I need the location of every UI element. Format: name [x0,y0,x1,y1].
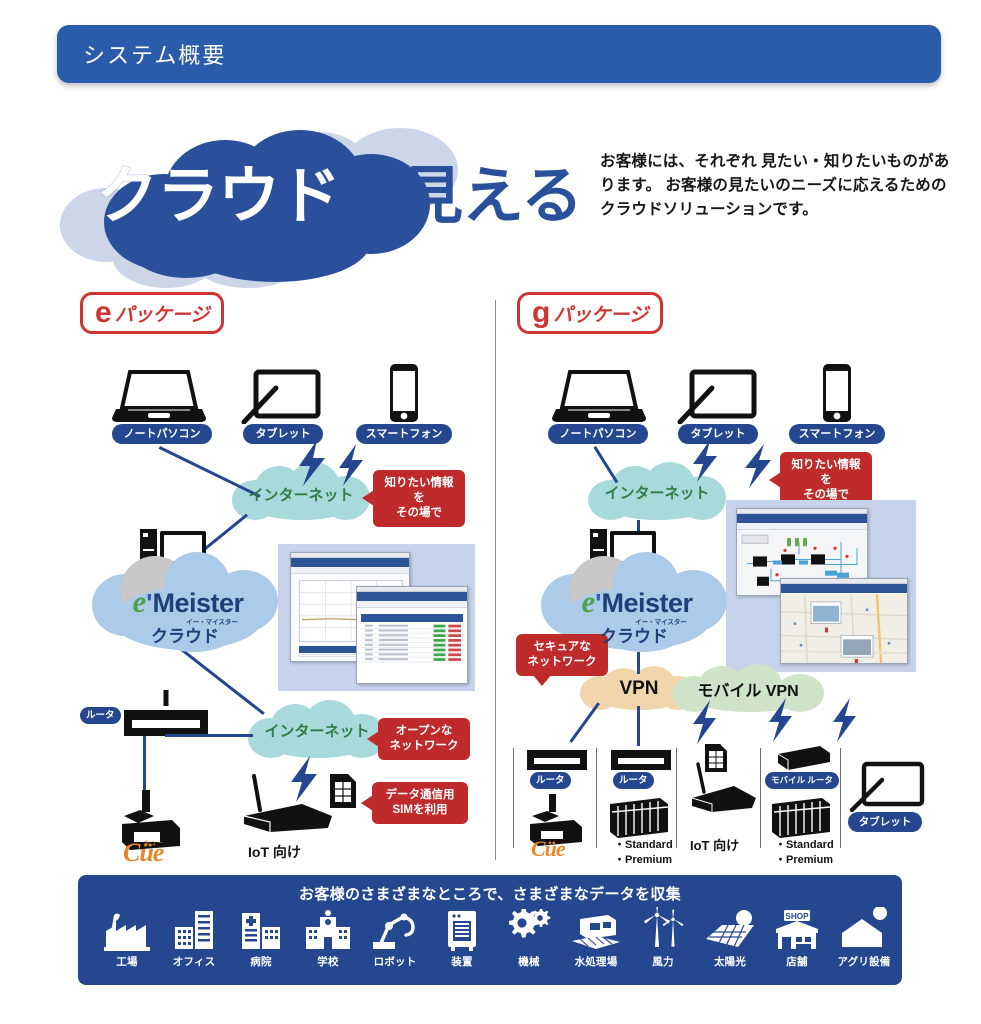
banner-item-shop: SHOP 店舗 [766,907,828,969]
column-separator-2 [596,748,597,848]
shop-sign-text: SHOP [785,912,809,921]
sim-card-icon-col3 [703,742,729,779]
banner-label-shop: 店舗 [766,954,828,969]
banner-item-solar: 太陽光 [699,907,761,969]
meister-logo-word-right: Meister [601,588,692,618]
column-separator-1 [513,748,514,848]
wind-turbine-icon [632,907,694,951]
iot-label-col3: IoT 向け [690,835,739,854]
sim-card-icon-left [328,772,358,815]
banner-label-solar: 太陽光 [699,954,761,969]
banner-item-school: 学校 [297,907,359,969]
device-label-router-col1: ルータ [530,772,571,789]
screenshot-table-window [356,586,468,684]
package-label-e: パッケージ [115,300,210,327]
panel-divider [495,300,496,860]
banner-item-factory: 工場 [96,907,158,969]
wifi-bolt-icon-4 [690,440,720,487]
banner-label-factory: 工場 [96,954,158,969]
wifi-bolt-icon-7 [766,698,794,747]
hospital-icon [230,907,292,951]
meister-logo-word: Meister [152,588,243,618]
link-meister-vpn [637,652,640,674]
device-label-smartphone-right: スマートフォン [789,424,885,444]
iot-label-left: IoT 向け [248,842,301,862]
internet-cloud-label-left-lower: インターネット [248,720,386,741]
vpn-cloud-label: VPN [580,678,698,700]
device-label-mobile-router-col4: モバイル ルータ [765,772,839,789]
banner-item-agri: アグリ設備 [833,907,895,969]
banner-label-equipment: 装置 [431,954,493,969]
equipment-cabinet-icon [431,907,493,951]
lead-paragraph: お客様には、それぞれ 見たい・知りたいものがあります。 お客様の見たいのニーズに… [600,150,950,222]
device-label-router-left: ルータ [80,707,121,724]
meister-cloud-right: e'Meister イー・マイスター クラウド [541,548,727,652]
link-router-internet-left [165,734,253,737]
solar-panel-icon [699,907,761,951]
server-stack-icon-col4 [768,794,834,843]
banner-item-water: 水処理場 [565,907,627,969]
package-badge-e[interactable]: e パッケージ [80,292,224,334]
greenhouse-icon [833,907,895,951]
cue-logo-ruby-left: キュー [144,838,164,847]
headline-cloud-word: クラウド [96,162,340,231]
page-title: システム概要 [83,38,226,70]
callout-open-network: オープンな ネットワーク [378,718,470,760]
banner-item-office: オフィス [163,907,225,969]
banner-title: お客様のさまざまなところで、さまざまなデータを収集 [78,883,902,904]
shop-icon: SHOP [766,907,828,951]
meister-logo-ruby-right: イー・マイスター [601,616,721,626]
banner-item-hospital: 病院 [230,907,292,969]
package-badge-g[interactable]: g パッケージ [517,292,663,334]
banner-label-school: 学校 [297,954,359,969]
server-stack-icon-col2 [606,794,672,843]
banner-label-wind: 風力 [632,954,694,969]
laptop-icon-right [550,368,646,429]
headline-text: クラウドで見える [96,166,616,228]
water-treatment-icon [565,907,627,951]
stack-note-col4: ・Standard ・Premium [775,838,834,868]
device-label-smartphone-left: スマートフォン [356,424,452,444]
smartphone-icon-left [385,363,423,430]
link-vpn-router2 [637,706,640,746]
internet-cloud-left-lower: インターネット [248,700,386,758]
package-letter-g: g [532,298,550,328]
tablet-icon-col5 [848,760,926,819]
package-label-g: パッケージ [553,300,648,327]
tablet-icon-left [240,368,322,429]
package-letter-e: e [95,298,112,328]
column-separator-3 [676,748,677,848]
school-icon [297,907,359,951]
laptop-icon-left [110,368,206,429]
internet-cloud-label-left: インターネット [232,484,370,505]
page-header-bar: システム概要 [57,25,941,83]
banner-item-wind: 風力 [632,907,694,969]
screenshot-panel-right [726,500,916,672]
device-label-laptop-left: ノートパソコン [112,424,212,444]
stack-note-col2: ・Standard ・Premium [614,838,673,868]
banner-item-machine: 機械 [498,907,560,969]
internet-cloud-label-right: インターネット [588,482,726,503]
headline-cloud-group: クラウドで見える [60,128,600,288]
column-separator-5 [840,748,841,848]
smartphone-icon-right [818,363,856,430]
banner-label-office: オフィス [163,954,225,969]
banner-label-robot: ロボット [364,954,426,969]
gears-icon [498,907,560,951]
meister-cloud-left: e'Meister イー・マイスター クラウド [92,548,278,652]
banner-label-water: 水処理場 [565,954,627,969]
meister-logo-ruby: イー・マイスター [152,616,272,626]
factory-icon [96,907,158,951]
meister-logo-e-right: e [582,584,596,619]
meister-logo-e: e [133,584,147,619]
iot-gateway-icon-left [236,772,340,839]
banner-item-equipment: 装置 [431,907,493,969]
system-overview-diagram: システム概要 クラウドで見える お客様には、それぞれ 見たい・知りたいものがあり… [0,0,981,1024]
screenshot-panel-left [278,544,475,691]
tablet-icon-right [676,368,758,429]
screenshot-map-window [780,578,908,664]
device-label-router-col2: ルータ [613,772,654,789]
office-icon [163,907,225,951]
device-label-tablet-col5: タブレット [848,812,922,832]
banner-label-machine: 機械 [498,954,560,969]
banner-item-robot: ロボット [364,907,426,969]
callout-sim-use: データ通信用 SIMを利用 [372,782,468,824]
data-collection-banner: お客様のさまざまなところで、さまざまなデータを収集 工場 [78,875,902,985]
robot-arm-icon [364,907,426,951]
router-icon-left [118,688,214,747]
headline-tail-word: で見える [340,162,582,231]
callout-know-info-left: 知りたい情報を その場で [373,470,465,527]
device-label-laptop-right: ノートパソコン [548,424,648,444]
banner-label-agri: アグリ設備 [833,954,895,969]
wifi-bolt-icon-8 [830,698,858,747]
banner-label-hospital: 病院 [230,954,292,969]
cue-logo-col1: Cüe [531,836,565,862]
